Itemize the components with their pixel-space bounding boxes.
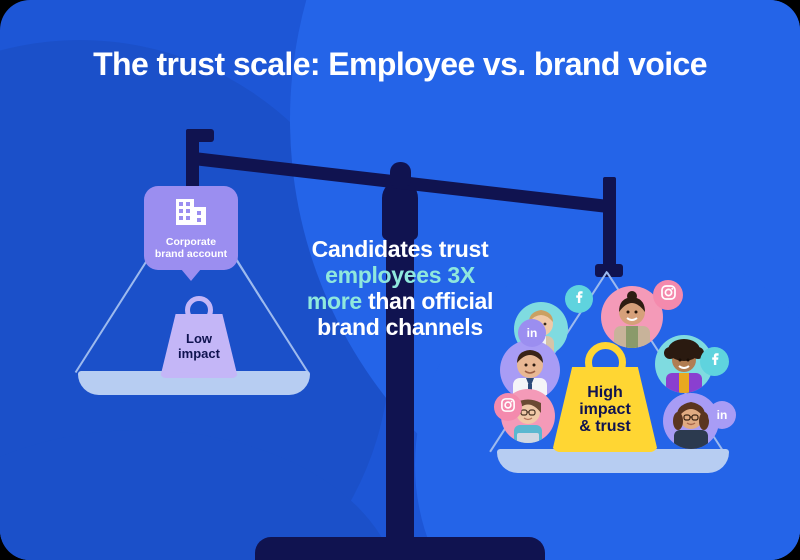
linkedin-icon: in bbox=[717, 408, 728, 422]
center-message: Candidates trust employees 3X more than … bbox=[272, 236, 528, 340]
corporate-brand-card-label: Corporate brand account bbox=[155, 236, 227, 260]
scale-arm-right bbox=[603, 177, 616, 275]
scale-arm-cap-left bbox=[186, 129, 214, 142]
center-message-line4: brand channels bbox=[317, 314, 483, 340]
badge-facebook-1[interactable] bbox=[565, 285, 593, 313]
instagram-icon bbox=[660, 284, 677, 306]
scale-fulcrum-knob bbox=[390, 162, 411, 186]
weight-low-label-line2: impact bbox=[178, 346, 220, 361]
linkedin-icon: in bbox=[527, 326, 538, 340]
weight-high-impact: High impact & trust bbox=[552, 342, 658, 452]
weight-high-label-line1: High bbox=[587, 384, 623, 401]
corp-label-line2: brand account bbox=[155, 248, 227, 260]
scale-pan-right bbox=[497, 449, 729, 473]
weight-low-impact: Low impact bbox=[160, 296, 238, 378]
weight-low-label-line1: Low bbox=[186, 331, 212, 346]
badge-instagram-1[interactable] bbox=[653, 280, 683, 310]
badge-instagram-2[interactable] bbox=[494, 393, 522, 421]
weight-high-body: High impact & trust bbox=[552, 367, 658, 452]
corp-label-line1: Corporate bbox=[166, 236, 216, 248]
center-message-accent2: more bbox=[307, 288, 362, 314]
center-message-line1: Candidates trust bbox=[312, 236, 489, 262]
page-title: The trust scale: Employee vs. brand voic… bbox=[0, 46, 800, 83]
instagram-icon bbox=[500, 397, 516, 418]
weight-high-label-line2: impact bbox=[579, 401, 631, 418]
building-icon bbox=[174, 196, 208, 231]
facebook-icon bbox=[707, 351, 723, 372]
badge-facebook-2[interactable] bbox=[700, 347, 729, 376]
center-message-accent1: employees 3X bbox=[325, 262, 475, 288]
weight-high-label-line3: & trust bbox=[579, 418, 631, 435]
center-message-line3-rest: than official bbox=[362, 288, 493, 314]
infographic-canvas: The trust scale: Employee vs. brand voic… bbox=[0, 0, 800, 560]
facebook-icon bbox=[571, 289, 587, 310]
corporate-brand-card[interactable]: Corporate brand account bbox=[144, 186, 238, 270]
badge-linkedin-2[interactable]: in bbox=[708, 401, 736, 429]
weight-low-body: Low impact bbox=[160, 314, 238, 378]
